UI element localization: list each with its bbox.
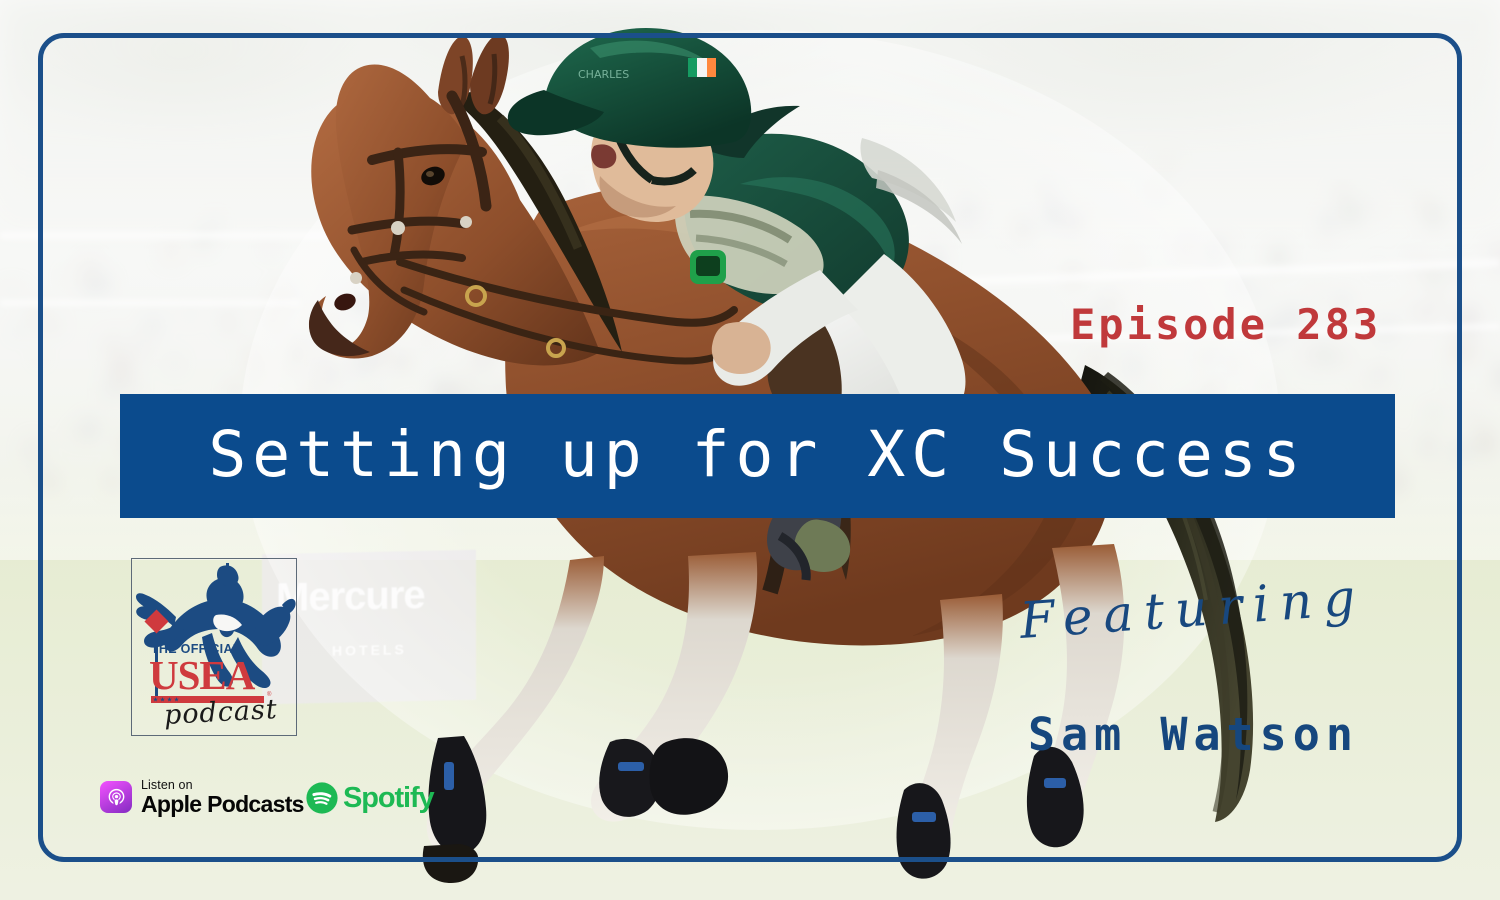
podcast-glyph bbox=[106, 787, 127, 808]
podcast-promo-graphic: Mercure HOTELS bbox=[0, 0, 1500, 900]
logo-usea-acronym: USEA bbox=[149, 655, 254, 696]
episode-title: Setting up for XC Success bbox=[120, 423, 1395, 490]
episode-number: Episode 283 bbox=[1070, 300, 1381, 349]
apple-podcasts-badge[interactable]: Listen on Apple Podcasts bbox=[100, 779, 304, 816]
logo-podcast-script: podcast bbox=[163, 694, 278, 731]
svg-text:CHARLES: CHARLES bbox=[578, 68, 629, 81]
apple-podcasts-text: Listen on Apple Podcasts bbox=[141, 779, 304, 816]
spotify-icon bbox=[305, 781, 339, 815]
episode-title-banner: Setting up for XC Success bbox=[120, 394, 1395, 518]
spotify-label: Spotify bbox=[343, 784, 434, 813]
irish-flag-badge bbox=[688, 58, 716, 77]
apple-podcasts-label: Apple Podcasts bbox=[141, 793, 304, 816]
guest-name: Sam Watson bbox=[1028, 708, 1359, 761]
apple-listen-on-label: Listen on bbox=[141, 779, 304, 792]
apple-podcasts-icon bbox=[100, 781, 132, 813]
usea-podcast-logo-card: THE OFFICIAL USEA ® podcast bbox=[131, 558, 297, 736]
spotify-badge[interactable]: Spotify bbox=[305, 781, 434, 815]
